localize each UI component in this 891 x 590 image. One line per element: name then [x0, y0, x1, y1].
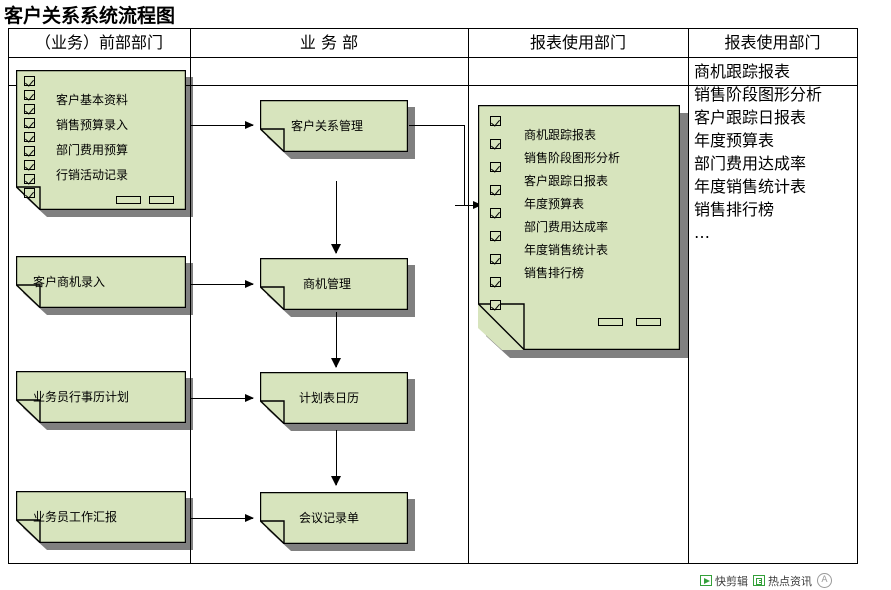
- checkbox-row-7[interactable]: [490, 254, 501, 264]
- grid-col-0: [8, 28, 9, 564]
- watermark-item-quickedit[interactable]: 快剪辑: [700, 573, 748, 589]
- checkbox-row-2[interactable]: [24, 90, 35, 100]
- checkbox-row-2[interactable]: [490, 139, 501, 149]
- checkbox-icon[interactable]: [490, 139, 501, 149]
- checklist-item-label: 销售预算录入: [56, 116, 128, 133]
- connector-reports-v: [464, 125, 465, 205]
- report-item-label: 客户跟踪日报表: [524, 172, 608, 189]
- checkbox-row-4[interactable]: [490, 185, 501, 195]
- report-list-item: 商机跟踪报表: [694, 60, 854, 83]
- checkbox-icon[interactable]: [24, 160, 35, 170]
- report-item-label: 销售阶段图形分析: [524, 149, 620, 166]
- checkbox-row-4[interactable]: [24, 118, 35, 128]
- front-note-salesperson-calendar[interactable]: 业务员行事历计划: [16, 371, 186, 423]
- report-checklist-document[interactable]: 商机跟踪报表 销售阶段图形分析 客户跟踪日报表 年度预算表 部门费用达成率 年度…: [478, 105, 680, 350]
- at-icon: A: [817, 573, 832, 588]
- checkbox-row-8[interactable]: [490, 277, 501, 287]
- checkbox-row-3[interactable]: [490, 162, 501, 172]
- note-label: 会议记录单: [299, 509, 359, 526]
- checkbox-icon[interactable]: [24, 188, 35, 198]
- checkbox-icon[interactable]: [490, 208, 501, 218]
- tag-button[interactable]: [598, 318, 623, 326]
- checkbox-icon[interactable]: [24, 118, 35, 128]
- note-label: 业务员行事历计划: [33, 388, 129, 405]
- flowchart-canvas: 客户关系系统流程图 （业务）前部部门 业 务 部 报表使用部门 报表使用部门: [0, 0, 891, 590]
- checkbox-icon[interactable]: [490, 254, 501, 264]
- checkbox-icon[interactable]: [490, 185, 501, 195]
- business-note-plan-calendar[interactable]: 计划表日历: [260, 372, 408, 424]
- checklist-item-label: 客户基本资料: [56, 91, 128, 108]
- report-item-label: 年度销售统计表: [524, 241, 608, 258]
- checkbox-icon[interactable]: [24, 146, 35, 156]
- watermark-item-news[interactable]: 热点资讯: [753, 573, 812, 589]
- report-item-label: 商机跟踪报表: [524, 126, 596, 143]
- grid-line-bottom: [8, 563, 858, 564]
- watermark-label: 快剪辑: [715, 573, 748, 589]
- note-label: 计划表日历: [299, 389, 359, 406]
- business-note-opportunity-mgmt[interactable]: 商机管理: [260, 258, 408, 310]
- report-list: 商机跟踪报表 销售阶段图形分析 客户跟踪日报表 年度预算表 部门费用达成率 年度…: [694, 60, 854, 244]
- report-list-item: 客户跟踪日报表: [694, 106, 854, 129]
- grid-col-4: [857, 28, 858, 564]
- arrow-opportunity-to-calendar: [336, 312, 337, 367]
- business-note-crm[interactable]: 客户关系管理: [260, 100, 408, 152]
- checkbox-icon[interactable]: [490, 116, 501, 126]
- play-icon: [700, 575, 712, 586]
- checkbox-row-6[interactable]: [24, 146, 35, 156]
- note-label: 客户关系管理: [291, 117, 363, 134]
- grid-col-1: [190, 28, 191, 564]
- business-note-meeting-record[interactable]: 会议记录单: [260, 492, 408, 544]
- tag-button[interactable]: [636, 318, 661, 326]
- checkbox-icon[interactable]: [490, 277, 501, 287]
- checkbox-icon[interactable]: [490, 300, 501, 310]
- connector-crm-to-reports-h: [409, 125, 465, 126]
- page-title: 客户关系系统流程图: [4, 1, 175, 28]
- column-header-business-department: 业 务 部: [190, 29, 468, 57]
- arrow-calendar-to-meeting: [336, 430, 337, 485]
- checkbox-icon[interactable]: [24, 174, 35, 184]
- front-note-work-report[interactable]: 业务员工作汇报: [16, 491, 186, 543]
- watermark-bar: 快剪辑 热点资讯 A: [700, 572, 832, 589]
- checkbox-icon[interactable]: [490, 162, 501, 172]
- checkbox-icon[interactable]: [24, 90, 35, 100]
- checkbox-row-1[interactable]: [490, 116, 501, 126]
- checklist-item-label: 部门费用预算: [56, 141, 128, 158]
- report-item-label: 部门费用达成率: [524, 218, 608, 235]
- tag-button[interactable]: [149, 196, 174, 204]
- checkbox-row-5[interactable]: [24, 132, 35, 142]
- checkbox-row-1[interactable]: [24, 76, 35, 86]
- report-item-label: 年度预算表: [524, 195, 584, 212]
- checkbox-row-9[interactable]: [490, 300, 501, 310]
- note-label: 客户商机录入: [33, 273, 105, 290]
- checkbox-icon[interactable]: [24, 76, 35, 86]
- front-checklist-document[interactable]: 客户基本资料 销售预算录入 部门费用预算 行销活动记录: [16, 70, 186, 210]
- grid-col-2: [468, 28, 469, 564]
- checkbox-icon[interactable]: [24, 104, 35, 114]
- arrow-report-to-meeting: [190, 518, 253, 519]
- column-header-report-list: 报表使用部门: [688, 29, 857, 57]
- news-icon: [753, 575, 765, 586]
- report-list-item: …: [694, 221, 854, 244]
- note-label: 商机管理: [303, 275, 351, 292]
- arrow-front-to-crm: [190, 125, 253, 126]
- report-item-label: 销售排行榜: [524, 264, 584, 281]
- checkbox-row-8[interactable]: [24, 174, 35, 184]
- watermark-label: 热点资讯: [768, 573, 812, 589]
- checkbox-row-5[interactable]: [490, 208, 501, 218]
- report-list-item: 年度预算表: [694, 129, 854, 152]
- column-header-report-department: 报表使用部门: [468, 29, 688, 57]
- front-note-opportunity-entry[interactable]: 客户商机录入: [16, 256, 186, 308]
- grid-col-3: [688, 28, 689, 564]
- arrow-crm-to-opportunity: [336, 181, 337, 253]
- checkbox-row-6[interactable]: [490, 231, 501, 241]
- column-header-front-department: （业务）前部部门: [8, 29, 190, 57]
- arrow-opportunity-to-mgmt: [190, 284, 253, 285]
- note-label: 业务员工作汇报: [33, 508, 117, 525]
- checklist-item-label: 行销活动记录: [56, 166, 128, 183]
- report-list-item: 年度销售统计表: [694, 175, 854, 198]
- tag-button[interactable]: [116, 196, 141, 204]
- checkbox-row-3[interactable]: [24, 104, 35, 114]
- checkbox-icon[interactable]: [490, 231, 501, 241]
- watermark-item-at[interactable]: A: [817, 573, 832, 588]
- checkbox-row-7[interactable]: [24, 160, 35, 170]
- report-list-item: 销售排行榜: [694, 198, 854, 221]
- checkbox-icon[interactable]: [24, 132, 35, 142]
- report-list-item: 部门费用达成率: [694, 152, 854, 175]
- report-list-item: 销售阶段图形分析: [694, 83, 854, 106]
- grid-line-header: [8, 57, 858, 58]
- checkbox-row-9[interactable]: [24, 188, 35, 198]
- arrow-calendar-plan-to-calendar: [190, 398, 253, 399]
